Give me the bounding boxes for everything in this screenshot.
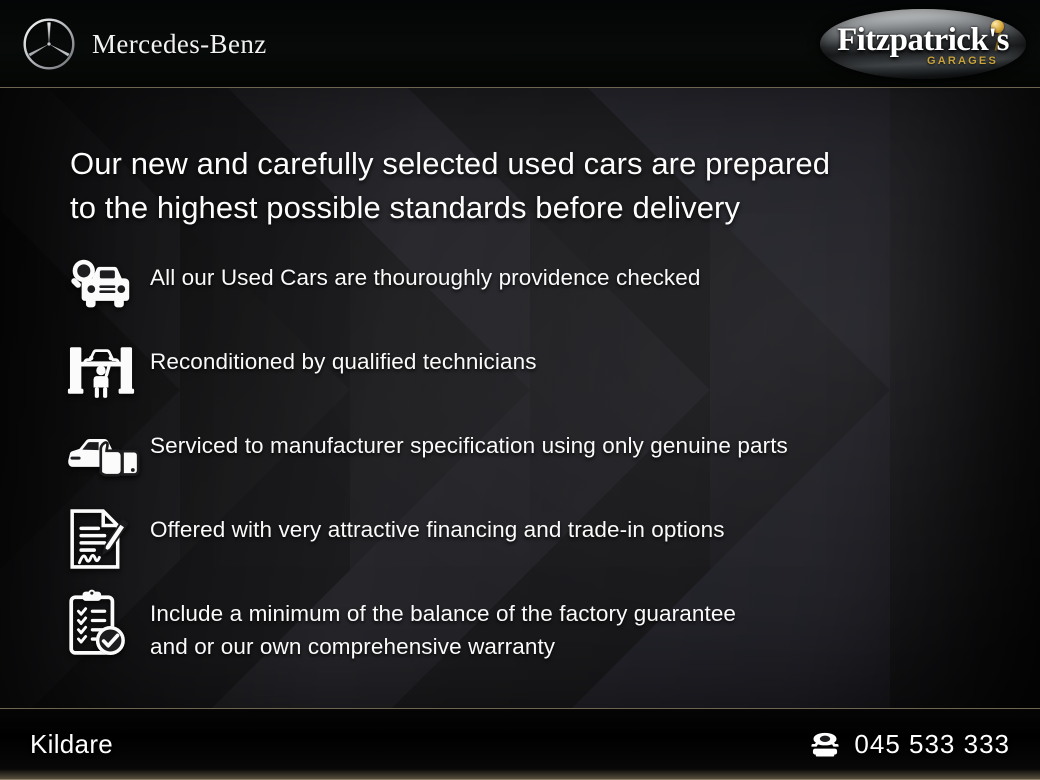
header-bar: Mercedes-Benz Fitzpatrick's GARAGES [0,0,1040,88]
car-inspection-icon [66,256,150,318]
fitzpatricks-garages-logo[interactable]: Fitzpatrick's GARAGES [820,9,1026,79]
benefits-list: All our Used Cars are thouroughly provid… [66,256,1016,671]
checklist-clipboard-icon [66,592,150,654]
headline-line-1: Our new and carefully selected used cars… [70,142,970,186]
brand-name: Mercedes-Benz [92,29,267,60]
phone-number: 045 533 333 [854,729,1010,760]
footer-bar: Kildare 045 533 333 [0,708,1040,780]
list-item: Offered with very attractive financing a… [66,508,1016,570]
list-item-label-line-1: Include a minimum of the balance of the … [150,598,1016,631]
list-item-label-line-2: and or our own comprehensive warranty [150,631,1016,664]
list-item-label: Offered with very attractive financing a… [150,508,1016,547]
telephone-icon [810,731,840,757]
car-thumbs-up-icon [66,424,150,486]
list-item-label: Reconditioned by qualified technicians [150,340,1016,379]
list-item: Reconditioned by qualified technicians [66,340,1016,402]
list-item: Serviced to manufacturer specification u… [66,424,1016,486]
headline-line-2: to the highest possible standards before… [70,186,970,230]
contract-signature-icon [66,508,150,570]
list-item-label: Include a minimum of the balance of the … [150,592,1016,663]
main-content: Our new and carefully selected used cars… [0,88,1040,708]
logo-subtitle: GARAGES [927,55,998,67]
list-item-label: All our Used Cars are thouroughly provid… [150,256,1016,295]
location-label: Kildare [30,729,113,760]
car-lift-technician-icon [66,340,150,402]
list-item: All our Used Cars are thouroughly provid… [66,256,1016,318]
advert-slide: Mercedes-Benz Fitzpatrick's GARAGES Our … [0,0,1040,780]
footer-sheen [0,769,1040,779]
phone-contact[interactable]: 045 533 333 [810,729,1010,760]
list-item-label: Serviced to manufacturer specification u… [150,424,1016,463]
mercedes-benz-logo: Mercedes-Benz [22,17,267,71]
page-title: Our new and carefully selected used cars… [70,142,970,230]
logo-wordmark: Fitzpatrick's [820,22,1026,59]
list-item: Include a minimum of the balance of the … [66,592,1016,663]
mercedes-star-icon [22,17,76,71]
